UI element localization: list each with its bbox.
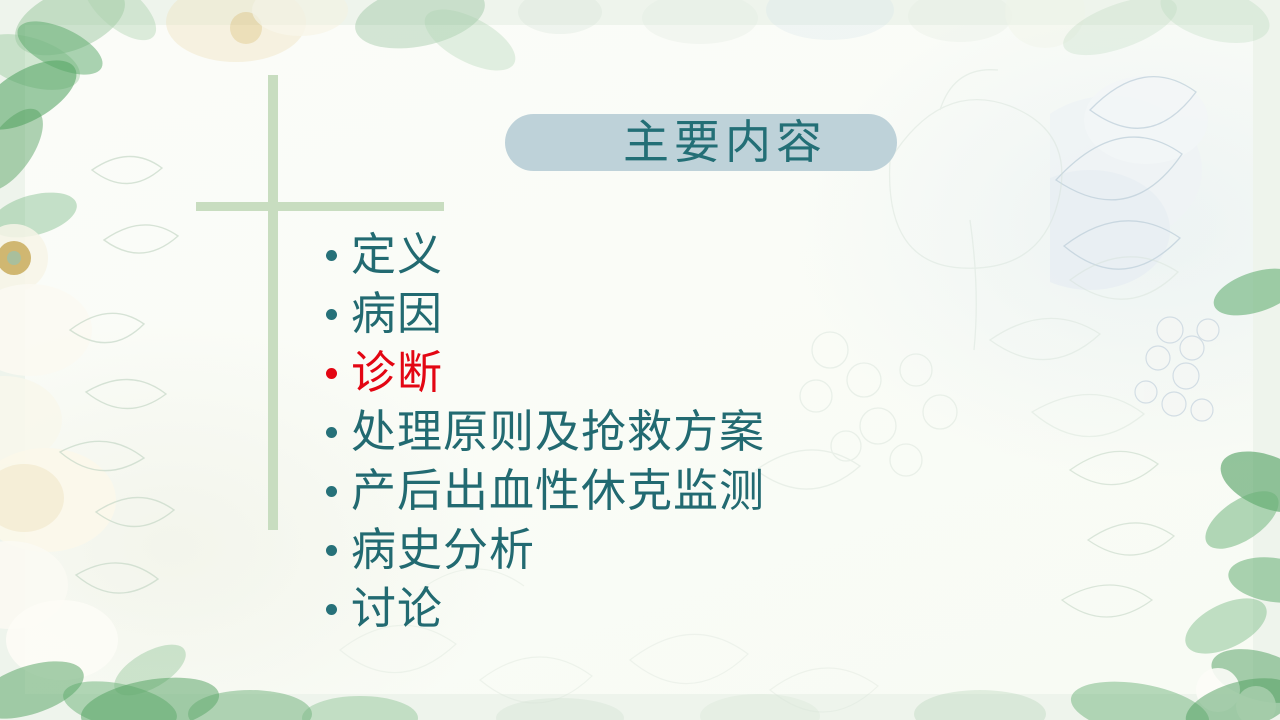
presentation-slide: 主要内容 定义 病因 诊断 处理原则及抢救方案 产后出血性休克监测 病史分析 [0, 0, 1280, 720]
list-item[interactable]: 病史分析 [326, 521, 1086, 580]
list-item-label: 定义 [351, 233, 443, 278]
list-item-highlighted[interactable]: 诊断 [326, 344, 1086, 403]
content-bullet-list: 定义 病因 诊断 处理原则及抢救方案 产后出血性休克监测 病史分析 讨论 [326, 226, 1086, 639]
list-item[interactable]: 处理原则及抢救方案 [326, 403, 1086, 462]
list-item[interactable]: 产后出血性休克监测 [326, 462, 1086, 521]
bullet-dot-icon [326, 250, 337, 261]
list-item-label: 处理原则及抢救方案 [351, 410, 765, 455]
bullet-dot-icon [326, 368, 337, 379]
bullet-dot-icon [326, 309, 337, 320]
list-item-label: 讨论 [351, 587, 443, 632]
bullet-dot-icon [326, 486, 337, 497]
list-item[interactable]: 定义 [326, 226, 1086, 285]
list-item[interactable]: 病因 [326, 285, 1086, 344]
list-item-label: 病史分析 [351, 528, 535, 573]
list-item-label: 产后出血性休克监测 [351, 469, 765, 514]
bullet-dot-icon [326, 604, 337, 615]
list-item-label: 病因 [351, 292, 443, 337]
bullet-dot-icon [326, 545, 337, 556]
list-item-label: 诊断 [351, 351, 443, 396]
page-title: 主要内容 [505, 114, 897, 171]
cross-vertical-line [268, 75, 278, 530]
bullet-dot-icon [326, 427, 337, 438]
cross-horizontal-line [196, 202, 444, 211]
list-item[interactable]: 讨论 [326, 580, 1086, 639]
